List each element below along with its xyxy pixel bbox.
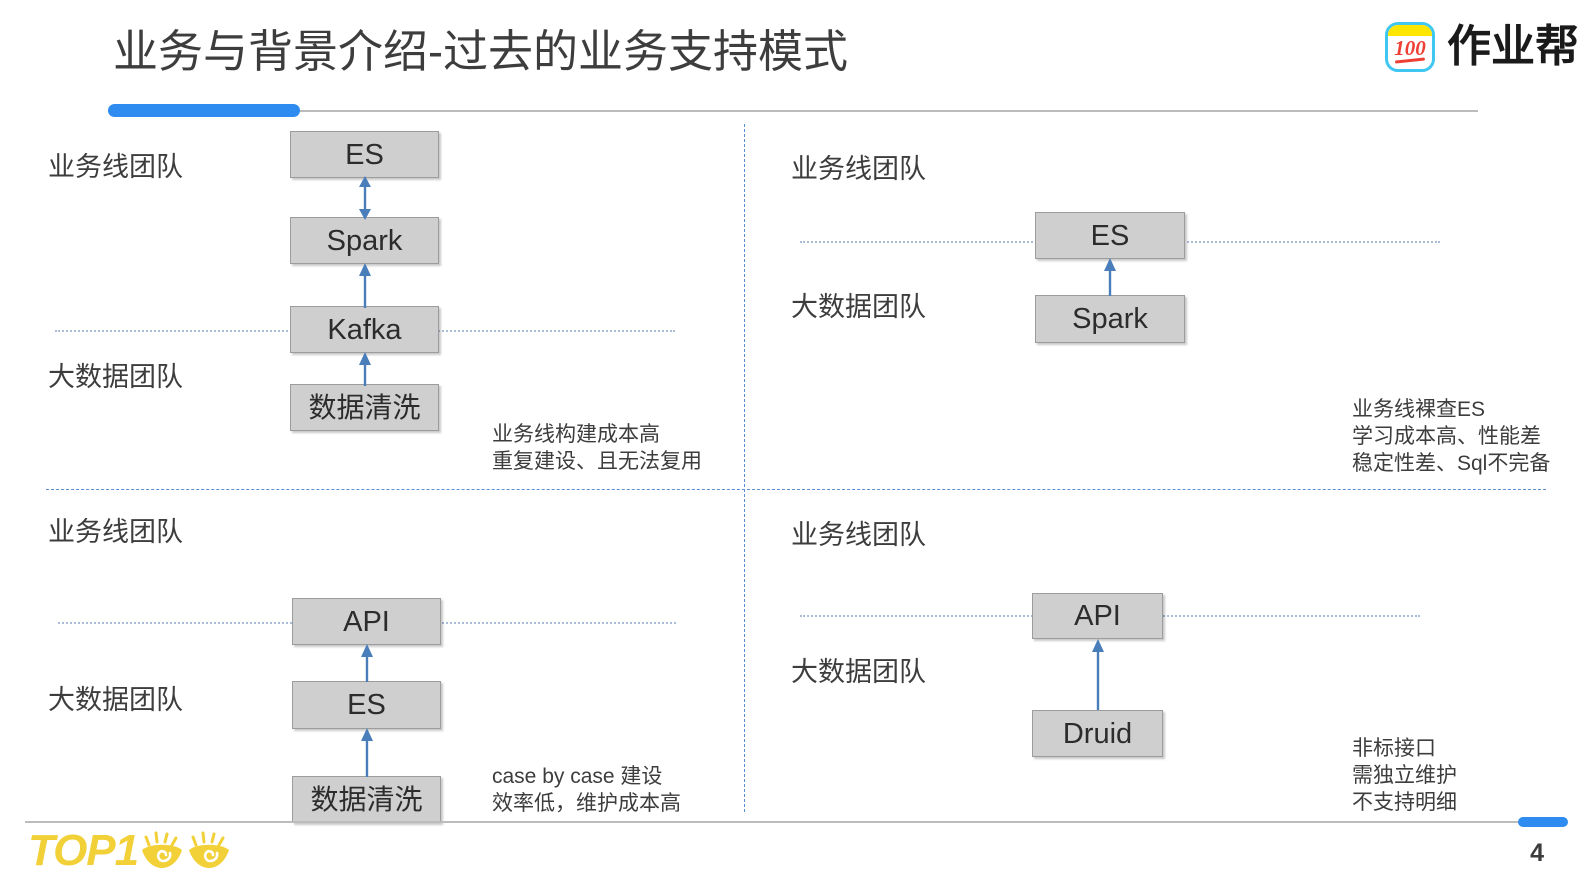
header-accent-bar: [108, 104, 300, 117]
footer-rule: [25, 821, 1537, 823]
q3-caption: case by case 建设 效率低，维护成本高: [492, 763, 681, 817]
q4-node-api[interactable]: API: [1032, 593, 1163, 639]
q3-business-team-label: 业务线团队: [48, 515, 183, 549]
q4-node-druid[interactable]: Druid: [1032, 710, 1163, 757]
eyes-icon: [140, 828, 235, 874]
header-rule: [108, 110, 1478, 112]
q2-node-spark[interactable]: Spark: [1035, 295, 1185, 343]
q1-caption: 业务线构建成本高 重复建设、且无法复用: [492, 421, 702, 475]
page-title: 业务与背景介绍-过去的业务支持模式: [113, 23, 848, 81]
q4-business-team-label: 业务线团队: [791, 518, 926, 552]
top1-logo-text: TOP1: [28, 826, 138, 876]
q1-arrow-data-cleaning-to-kafka: [357, 352, 373, 386]
icon-cap-band: [1388, 25, 1432, 36]
q3-bigdata-team-label: 大数据团队: [48, 683, 183, 717]
q3-arrow-data-cleaning-to-es: [359, 728, 375, 777]
icon-100-text: 100: [1388, 37, 1432, 60]
slide-canvas: 业务与背景介绍-过去的业务支持模式 100 作业帮 业务线团队 大数据团队 ES…: [0, 0, 1587, 892]
q1-node-kafka[interactable]: Kafka: [290, 306, 439, 353]
brand-name: 作业帮: [1447, 23, 1579, 71]
quadrant-divider-horizontal: [46, 489, 1546, 490]
q3-node-data-cleaning[interactable]: 数据清洗: [292, 776, 441, 823]
q1-business-team-label: 业务线团队: [48, 150, 183, 184]
q3-node-api[interactable]: API: [292, 598, 441, 645]
page-number: 4: [1530, 838, 1544, 868]
brand-logo: 100 作业帮: [1385, 22, 1579, 72]
top1-logo: TOP1: [28, 826, 235, 876]
q3-node-es[interactable]: ES: [292, 681, 441, 729]
q2-bigdata-team-label: 大数据团队: [791, 290, 926, 324]
q2-arrow-spark-to-es: [1102, 258, 1118, 296]
q4-bigdata-team-label: 大数据团队: [791, 655, 926, 689]
q2-caption: 业务线裸查ES 学习成本高、性能差 稳定性差、Sql不完备: [1352, 396, 1550, 477]
q1-node-es[interactable]: ES: [290, 131, 439, 178]
q3-arrow-es-to-api: [359, 644, 375, 682]
q1-node-spark[interactable]: Spark: [290, 217, 439, 264]
q2-business-team-label: 业务线团队: [791, 152, 926, 186]
q4-arrow-druid-to-api: [1090, 639, 1106, 710]
footer-accent-bar: [1518, 817, 1568, 827]
q1-node-data-cleaning[interactable]: 数据清洗: [290, 384, 439, 431]
q1-bigdata-team-label: 大数据团队: [48, 360, 183, 394]
q1-arrow-spark-es-bidirectional: [357, 176, 373, 220]
zuoyebang-100-icon: 100: [1385, 22, 1435, 72]
q1-arrow-kafka-to-spark: [357, 263, 373, 308]
quadrant-divider-vertical: [744, 124, 745, 812]
q4-caption: 非标接口 需独立维护 不支持明细: [1352, 735, 1457, 816]
q2-node-es[interactable]: ES: [1035, 212, 1185, 259]
